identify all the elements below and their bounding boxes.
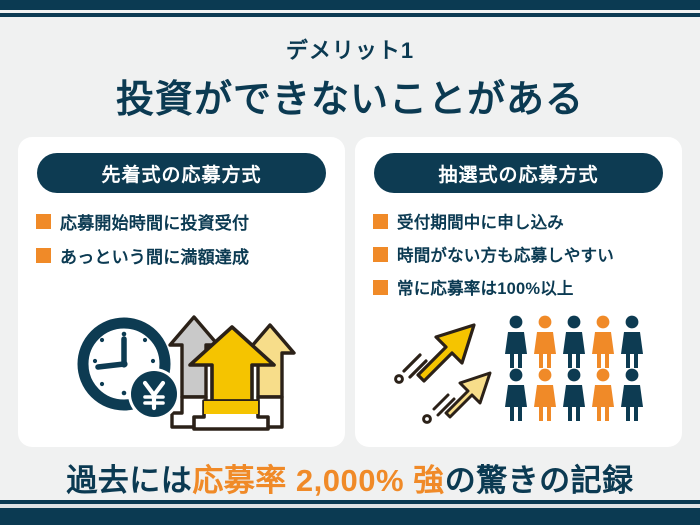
person-icon <box>534 316 556 368</box>
illustration-arrows-people <box>355 309 682 439</box>
yen-coin-icon <box>128 368 180 420</box>
bottom-border-thick <box>0 508 700 525</box>
top-border-thick <box>0 0 700 10</box>
diagonal-arrow-icon <box>423 373 493 422</box>
orange-square-icon <box>373 280 388 295</box>
banner-prefix: 過去には <box>66 463 192 498</box>
person-icon <box>563 316 585 368</box>
banner-suffix: の驚きの記録 <box>445 463 634 498</box>
list-item: 応募開始時間に投資受付 <box>36 209 335 234</box>
list-item-label: 時間がない方も応募しやすい <box>397 242 614 266</box>
bottom-banner: 過去には応募率 2,000% 強の驚きの記録 <box>0 455 700 500</box>
bullet-list-lottery: 受付期間中に申し込み 時間がない方も応募しやすい 常に応募率は100%以上 <box>373 209 672 308</box>
bullet-list-first-come: 応募開始時間に投資受付 あっという間に満額達成 <box>36 209 335 277</box>
clock-yen-arrows-svg <box>62 309 302 434</box>
diagonal-arrow-icon <box>395 325 473 382</box>
card-title-lottery: 抽選式の応募方式 <box>374 153 663 193</box>
list-item: 常に応募率は100%以上 <box>373 275 672 299</box>
top-border-thin <box>0 13 700 17</box>
illustration-clock-yen-arrows <box>18 309 345 439</box>
orange-square-icon <box>36 214 51 229</box>
list-item: 受付期間中に申し込み <box>373 209 672 233</box>
arrows-people-svg <box>394 309 644 427</box>
person-icon <box>505 316 527 368</box>
eyebrow-label: デメリット1 <box>0 33 700 65</box>
person-icon <box>621 316 643 368</box>
list-item-label: 常に応募率は100%以上 <box>397 275 574 299</box>
list-item-label: 受付期間中に申し込み <box>397 209 564 233</box>
list-item: あっという間に満額達成 <box>36 243 335 268</box>
person-icon <box>592 369 614 421</box>
person-icon <box>563 369 585 421</box>
list-item-label: あっという間に満額達成 <box>60 243 249 268</box>
person-icon <box>505 369 527 421</box>
orange-square-icon <box>36 248 51 263</box>
orange-square-icon <box>373 214 388 229</box>
card-lottery: 抽選式の応募方式 受付期間中に申し込み 時間がない方も応募しやすい 常に応募率は… <box>355 137 682 447</box>
card-first-come: 先着式の応募方式 応募開始時間に投資受付 あっという間に満額達成 <box>18 137 345 447</box>
card-title-first-come: 先着式の応募方式 <box>37 153 326 193</box>
orange-square-icon <box>373 247 388 262</box>
banner-highlight: 応募率 2,000% 強 <box>192 463 444 498</box>
list-item: 時間がない方も応募しやすい <box>373 242 672 266</box>
person-icon <box>534 369 556 421</box>
page-title: 投資ができないことがある <box>0 68 700 123</box>
person-icon <box>592 316 614 368</box>
person-icon <box>621 369 643 421</box>
list-item-label: 応募開始時間に投資受付 <box>60 209 249 234</box>
